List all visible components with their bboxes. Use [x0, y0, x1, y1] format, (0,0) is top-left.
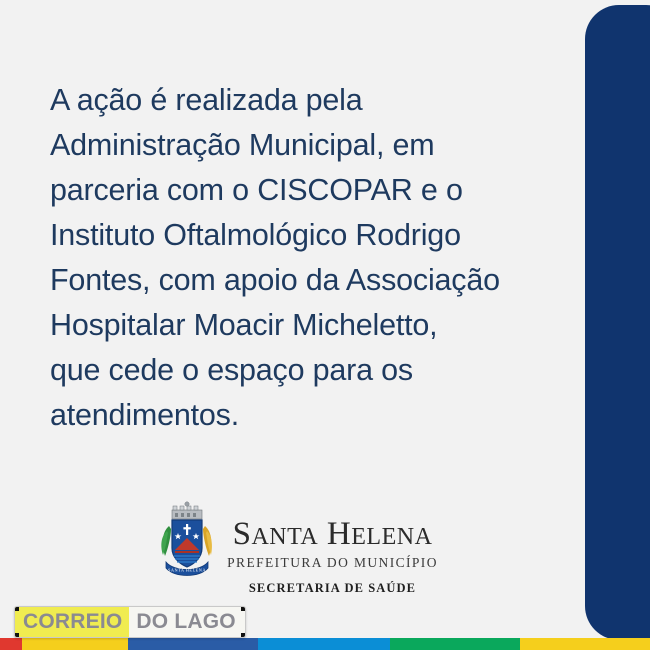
brand-subtitle: PREFEITURA DO MUNICÍPIO: [227, 555, 438, 571]
bottom-color-bar: [0, 638, 650, 650]
social-media-card: A ação é realizada pela Administração Mu…: [0, 0, 650, 650]
color-segment-yellow: [22, 638, 128, 650]
body-copy-block: A ação é realizada pela Administração Mu…: [50, 78, 570, 438]
selection-handle-top-left[interactable]: [14, 606, 19, 611]
selection-handle-bottom-left[interactable]: [14, 633, 19, 638]
color-segment-gold: [520, 638, 650, 650]
copy-line: Hospitalar Moacir Micheletto,: [50, 303, 570, 348]
svg-text:SANTA HELENA: SANTA HELENA: [168, 567, 206, 572]
color-segment-light-blue: [258, 638, 390, 650]
selection-handle-top-right[interactable]: [241, 606, 246, 611]
copy-line: que cede o espaço para os: [50, 348, 570, 393]
watermark-badge[interactable]: CORREIO DO LAGO: [14, 606, 246, 638]
copy-line: Instituto Oftalmológico Rodrigo: [50, 213, 570, 258]
coat-of-arms-icon: SANTA HELENA: [156, 500, 218, 580]
brand-title: SANTA HELENA: [233, 517, 433, 554]
watermark-text-do-lago: DO LAGO: [129, 607, 244, 637]
copy-line: parceria com o CISCOPAR e o: [50, 168, 570, 213]
color-segment-navy: [128, 638, 258, 650]
color-segment-red: [0, 638, 22, 650]
copy-line: Administração Municipal, em: [50, 123, 570, 168]
brand-department: SECRETARIA DE SAÚDE: [249, 580, 416, 596]
copy-line: atendimentos.: [50, 393, 570, 438]
brand-lockup: SANTA HELENA SANTA HELENA PREFEITURA DO …: [0, 500, 650, 596]
brand-title-text: SANTA HELENA: [233, 516, 433, 552]
watermark-text-correio: CORREIO: [15, 607, 129, 637]
color-segment-green: [390, 638, 520, 650]
copy-line: A ação é realizada pela: [50, 78, 570, 123]
copy-line: Fontes, com apoio da Associação: [50, 258, 570, 303]
